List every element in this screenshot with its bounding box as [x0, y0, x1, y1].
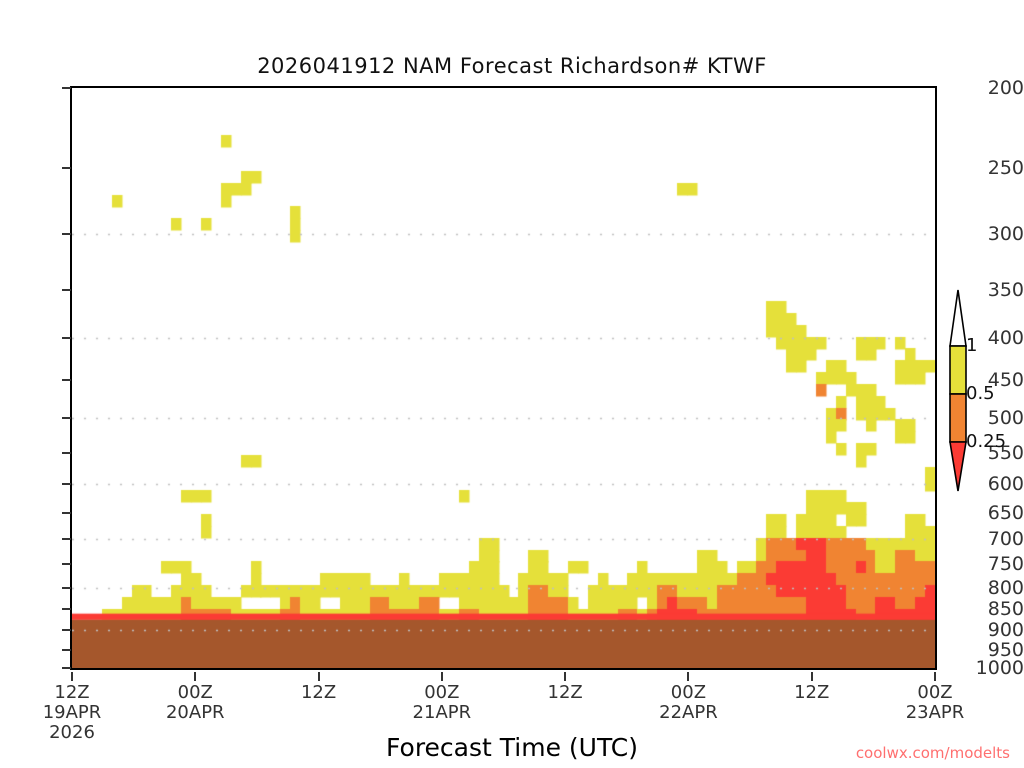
- y-tick-label: 200: [966, 77, 1024, 99]
- plot-area: [70, 86, 937, 670]
- y-tick-label: 800: [966, 577, 1024, 599]
- y-tick-mark: [62, 667, 71, 669]
- legend-swatch-orange: [950, 394, 966, 442]
- x-tick-label-line: 12Z: [12, 683, 132, 703]
- legend-swatch-above-1: [950, 290, 966, 346]
- x-tick-mark: [687, 672, 689, 681]
- y-tick-mark: [62, 629, 71, 631]
- x-tick-label-line: 00Z: [382, 683, 502, 703]
- y-tick-mark: [62, 538, 71, 540]
- x-tick-mark: [811, 672, 813, 681]
- y-tick-mark: [62, 452, 71, 454]
- x-tick-label: 00Z21APR: [382, 683, 502, 723]
- x-tick-label-line: 00Z: [135, 683, 255, 703]
- y-tick-label: 300: [966, 223, 1024, 245]
- x-tick-label-line: 00Z: [875, 683, 995, 703]
- x-tick-label: 00Z23APR: [875, 683, 995, 723]
- x-tick-mark: [194, 672, 196, 681]
- color-legend: 1 0.5 0.25: [938, 288, 978, 493]
- x-tick-label-line: 12Z: [259, 683, 379, 703]
- y-tick-mark: [62, 289, 71, 291]
- legend-label-05: 0.5: [966, 383, 995, 404]
- y-tick-mark: [62, 608, 71, 610]
- chart-root: 2026041912 NAM Forecast Richardson# KTWF…: [0, 0, 1024, 768]
- y-tick-mark: [62, 417, 71, 419]
- y-tick-mark: [62, 483, 71, 485]
- y-tick-mark: [62, 587, 71, 589]
- page-title: 2026041912 NAM Forecast Richardson# KTWF: [0, 54, 1024, 78]
- x-tick-label-line: 12Z: [752, 683, 872, 703]
- x-tick-label-line: 22APR: [628, 703, 748, 723]
- x-tick-label: 12Z: [505, 683, 625, 703]
- legend-label-1: 1: [966, 335, 977, 356]
- y-tick-label: 250: [966, 157, 1024, 179]
- y-tick-mark: [62, 563, 71, 565]
- y-tick-label: 750: [966, 553, 1024, 575]
- x-tick-label-line: 23APR: [875, 703, 995, 723]
- y-tick-mark: [62, 337, 71, 339]
- y-tick-label: 1000: [966, 657, 1024, 679]
- y-tick-mark: [62, 167, 71, 169]
- y-tick-label: 700: [966, 528, 1024, 550]
- x-tick-mark: [934, 672, 936, 681]
- y-tick-mark: [62, 379, 71, 381]
- legend-label-025: 0.25: [966, 431, 1006, 452]
- x-tick-label: 12Z: [259, 683, 379, 703]
- x-tick-mark: [318, 672, 320, 681]
- y-tick-mark: [62, 233, 71, 235]
- x-tick-label: 00Z22APR: [628, 683, 748, 723]
- x-tick-label-line: 19APR: [12, 703, 132, 723]
- x-tick-mark: [564, 672, 566, 681]
- y-tick-label: 650: [966, 502, 1024, 524]
- x-tick-label: 12Z: [752, 683, 872, 703]
- heatmap-canvas: [72, 88, 935, 668]
- y-tick-mark: [62, 512, 71, 514]
- x-tick-mark: [71, 672, 73, 681]
- x-tick-label-line: 20APR: [135, 703, 255, 723]
- watermark: coolwx.com/modelts: [856, 744, 1010, 762]
- y-tick-label: 850: [966, 598, 1024, 620]
- x-tick-label: 00Z20APR: [135, 683, 255, 723]
- legend-swatch-yellow: [950, 346, 966, 394]
- legend-swatch-red: [950, 442, 966, 491]
- y-tick-mark: [62, 87, 71, 89]
- x-tick-label-line: 12Z: [505, 683, 625, 703]
- x-tick-label-line: 21APR: [382, 703, 502, 723]
- x-tick-mark: [441, 672, 443, 681]
- y-tick-mark: [62, 649, 71, 651]
- x-tick-label-line: 00Z: [628, 683, 748, 703]
